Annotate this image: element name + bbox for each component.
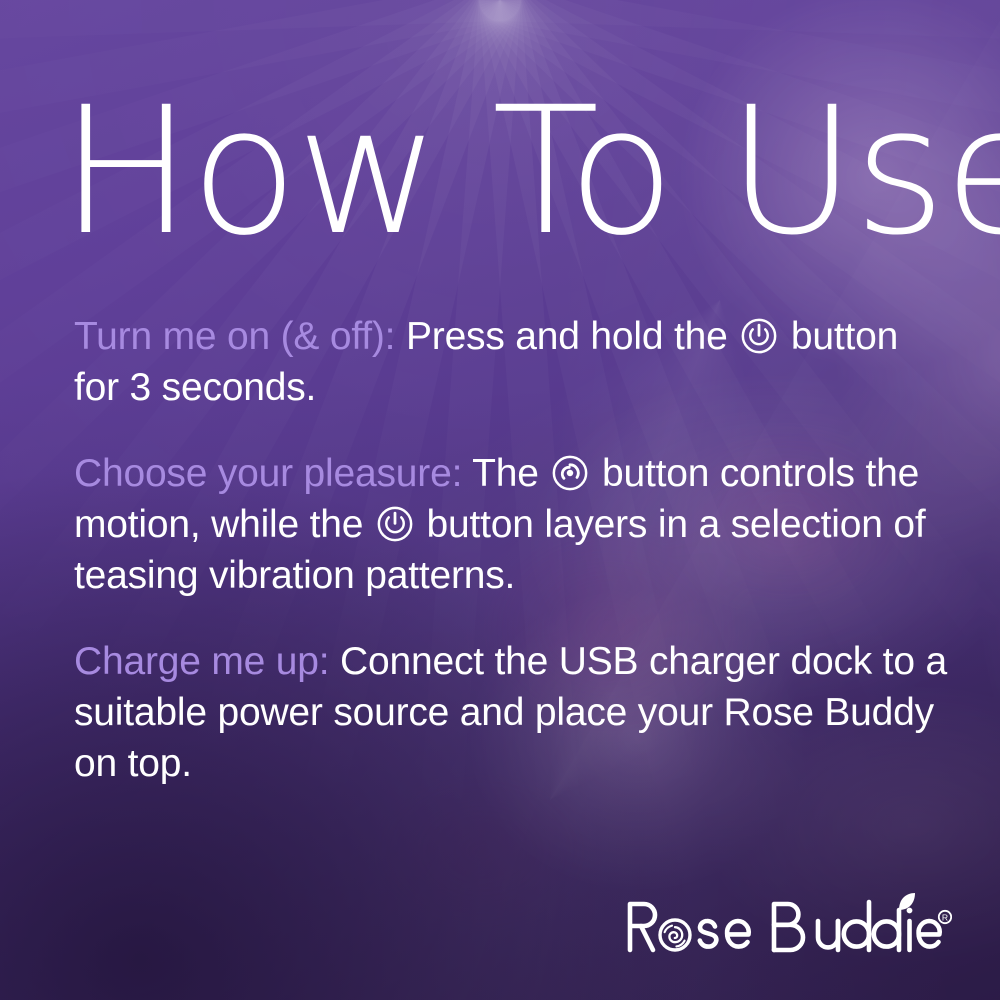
registered-trademark-icon: R	[939, 911, 951, 923]
instruction-text-pleasure-before: The	[462, 452, 549, 495]
rose-buddies-logotype: R	[622, 888, 952, 960]
instruction-text-power-before: Press and hold the	[395, 315, 738, 358]
swirl-motion-button-icon	[551, 454, 589, 492]
instruction-lead-power: Turn me on (& off):	[74, 315, 395, 358]
instruction-list: Turn me on (& off): Press and hold the b…	[74, 312, 952, 790]
svg-text:R: R	[942, 913, 948, 923]
instruction-lead-charge: Charge me up:	[74, 640, 329, 683]
instruction-item-charge: Charge me up: Connect the USB charger do…	[74, 637, 952, 789]
page-title: How To Use	[60, 88, 1000, 255]
brand-logo: R	[622, 888, 952, 960]
instruction-item-pleasure: Choose your pleasure: The button control…	[74, 449, 952, 601]
poster-canvas: How To Use Turn me on (& off): Press and…	[0, 0, 1000, 1000]
power-button-icon	[740, 317, 778, 355]
rose-icon	[660, 920, 690, 950]
poster-content: How To Use Turn me on (& off): Press and…	[0, 0, 1000, 1000]
leaf-icon	[899, 893, 915, 910]
instruction-lead-pleasure: Choose your pleasure:	[74, 452, 462, 495]
power-button-icon	[376, 505, 414, 543]
instruction-item-power: Turn me on (& off): Press and hold the b…	[74, 312, 952, 413]
